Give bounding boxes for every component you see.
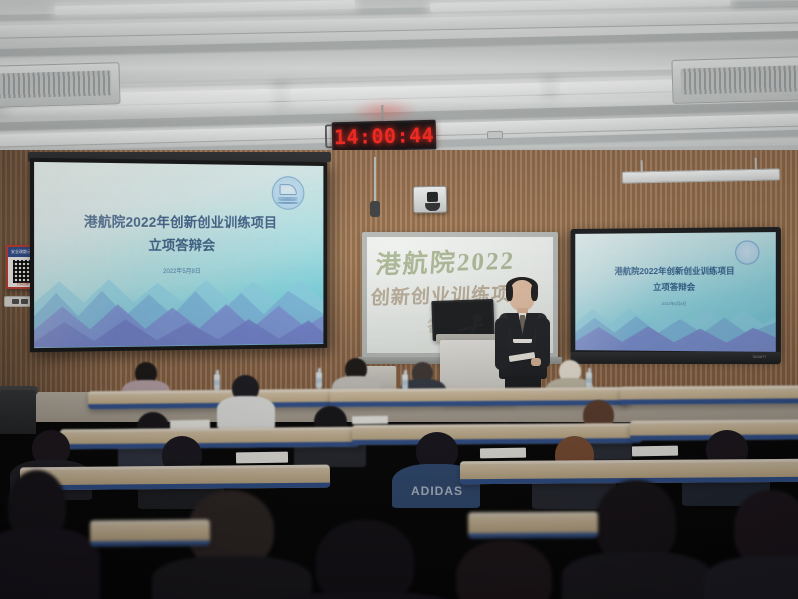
- person-shoulders: [562, 552, 712, 599]
- desk-row: [620, 385, 798, 404]
- clock-body: 14:00:44: [332, 120, 437, 153]
- water-bottle: [316, 372, 322, 389]
- ceiling-light: [430, 0, 730, 12]
- projection-screen: 港航院2022年创新创业训练项目 立项答辩会 2022年5月8日: [30, 158, 327, 353]
- ceiling-ac-unit-left: [0, 62, 121, 108]
- person-shoulders: [704, 556, 798, 599]
- presenter-hand: [531, 358, 541, 366]
- ceiling-sensor: [487, 131, 503, 139]
- display-bezel: SMART: [570, 352, 780, 364]
- tv-title-line2: 立项答辩会: [575, 281, 776, 293]
- water-bottle: [214, 374, 220, 391]
- person-head: [316, 520, 414, 599]
- person-shoulders: [274, 592, 456, 599]
- lecture-hall-photo: 14:00:44 安全疏散示意 扫码查看: [0, 0, 798, 599]
- cord-weight: [370, 201, 380, 217]
- display-screen: 港航院2022年创新创业训练项目 立项答辩会 2022年5月8日: [575, 232, 776, 352]
- presenter-hair: [506, 284, 513, 301]
- display-brand-mark: SMART: [752, 354, 766, 359]
- interactive-display[interactable]: 港航院2022年创新创业训练项目 立项答辩会 2022年5月8日: [570, 227, 780, 357]
- desk-row: [90, 519, 210, 546]
- presenter-arm: [495, 318, 509, 370]
- person-shoulders: [152, 556, 312, 599]
- document-paper: [632, 446, 678, 457]
- tv-date: 2022年5月8日: [575, 301, 776, 307]
- slide-title-line1: 港航院2022年创新创业训练项目: [34, 210, 323, 232]
- ac-louver-icon: [681, 65, 798, 94]
- audience-member: [0, 470, 86, 599]
- ac-louver-icon: [0, 71, 111, 99]
- document-paper: [480, 448, 526, 459]
- audience-member: [430, 540, 580, 599]
- whiteboard-text-line1: 港航院2022: [375, 241, 517, 282]
- light-hanger: [641, 160, 643, 172]
- camera-lens-icon: [427, 192, 438, 202]
- slide-date: 2022年5月8日: [34, 266, 323, 276]
- person-shoulders: [0, 528, 100, 599]
- outlet-socket[interactable]: [12, 299, 19, 304]
- document-paper: [352, 416, 388, 425]
- led-wall-clock: 14:00:44: [332, 120, 437, 153]
- university-emblem: [735, 241, 759, 265]
- student-presenter: [495, 280, 549, 402]
- wall-camera: [413, 186, 447, 214]
- camera-body: [425, 203, 440, 211]
- audience-member: [222, 375, 270, 425]
- hanging-cord: [374, 157, 376, 201]
- person-head: [734, 490, 798, 566]
- audience-member: [716, 490, 798, 599]
- clock-time-display: 14:00:44: [334, 123, 435, 149]
- person-shoulders: [217, 396, 275, 428]
- light-hanger: [755, 158, 757, 170]
- emblem-ship-icon: [279, 184, 296, 195]
- presenter-hair: [531, 284, 538, 301]
- slide-title-line2: 立项答辩会: [34, 234, 323, 255]
- shirt-brand-text: ADIDAS: [402, 484, 472, 499]
- trash-bin: [0, 390, 36, 434]
- person-head: [456, 540, 552, 599]
- ceiling-ac-unit-right: [671, 56, 798, 104]
- audience-member: [290, 520, 440, 599]
- outlet-socket[interactable]: [21, 299, 28, 304]
- audience-member: [576, 480, 696, 599]
- tv-title-line1: 港航院2022年创新创业训练项目: [575, 264, 776, 277]
- emblem-wave: [277, 202, 299, 204]
- university-emblem: [271, 176, 304, 210]
- presentation-slide: 港航院2022年创新创业训练项目 立项答辩会 2022年5月8日: [34, 162, 323, 348]
- desk-row: [468, 512, 598, 539]
- document-paper: [236, 452, 288, 464]
